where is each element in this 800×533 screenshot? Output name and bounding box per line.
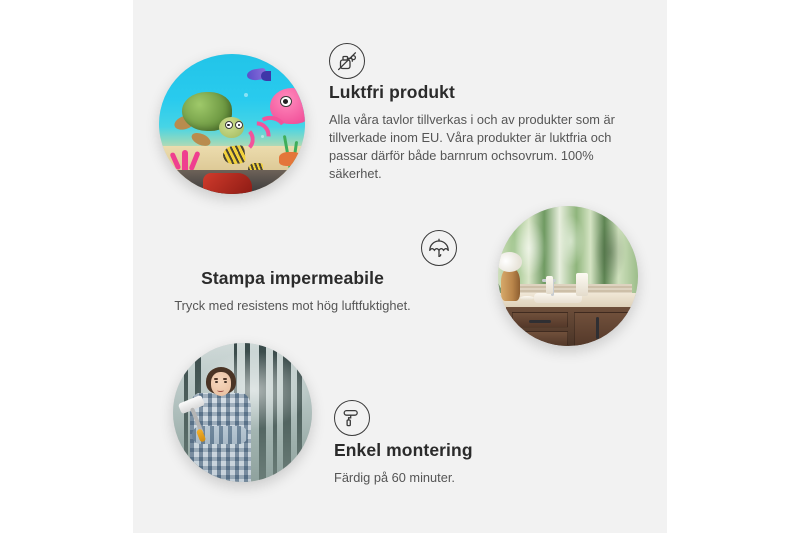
feature-image-waterproof-print	[498, 206, 638, 346]
feature-body-easy-mounting: Färdig på 60 minuter.	[334, 469, 624, 487]
no-fragrance-icon	[329, 43, 365, 79]
promo-banner: Luktfri produkt Alla våra tavlor tillver…	[0, 0, 800, 533]
feature-title-easy-mounting: Enkel montering	[334, 440, 624, 462]
feature-title-waterproof-print: Stampa impermeabile	[120, 268, 465, 290]
feature-waterproof-print: Stampa impermeabile Tryck med resistens …	[120, 268, 465, 315]
feature-odour-free: Luktfri produkt Alla våra tavlor tillver…	[329, 82, 619, 184]
feature-image-odour-free	[159, 54, 305, 194]
feature-body-odour-free: Alla våra tavlor tillverkas i och av pro…	[329, 111, 619, 184]
feature-easy-mounting: Enkel montering Färdig på 60 minuter.	[334, 440, 624, 487]
paint-roller-icon	[334, 400, 370, 436]
feature-image-easy-mounting	[173, 343, 312, 482]
feature-title-odour-free: Luktfri produkt	[329, 82, 619, 104]
umbrella-icon	[421, 230, 457, 266]
feature-body-waterproof-print: Tryck med resistens mot hög luftfuktighe…	[120, 297, 465, 315]
